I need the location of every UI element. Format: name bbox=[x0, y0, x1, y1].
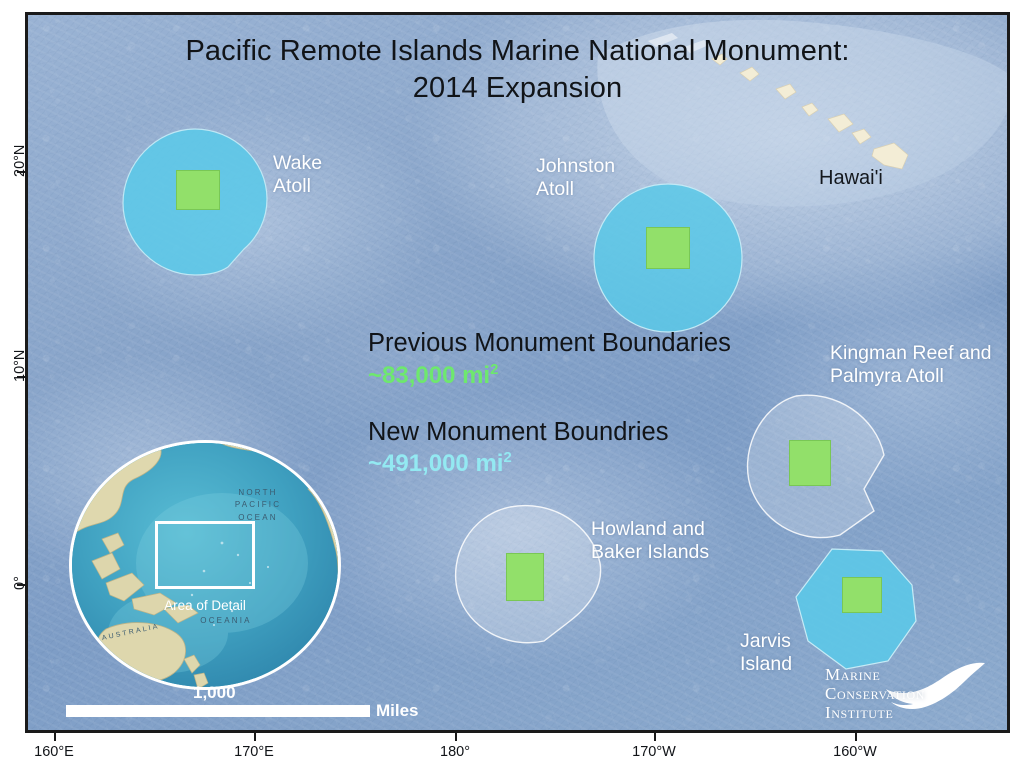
x-axis-label: 170°W bbox=[632, 744, 676, 760]
x-axis-label: 160°W bbox=[833, 744, 877, 760]
map-frame: Wake Atoll Johnston Atoll Hawai'i Kingma… bbox=[25, 12, 1010, 733]
x-axis-tick bbox=[54, 733, 56, 741]
inset-region-label: OCEANIA bbox=[180, 615, 272, 627]
johnston-atoll-previous-boundary bbox=[646, 227, 690, 269]
legend-new-boundaries: New Monument Boundries ~491,000 mi2 bbox=[368, 417, 838, 480]
logo-line-3: Institute bbox=[825, 703, 993, 722]
x-axis-label: 160°E bbox=[34, 744, 74, 760]
x-axis-tick bbox=[855, 733, 857, 741]
logo-text: Marine Conservation Institute bbox=[825, 665, 993, 722]
globe-graphic: NORTH PACIFIC OCEAN OCEANIA AUSTRALIA Ar… bbox=[69, 440, 341, 690]
scale-bar-distance: 1,000 bbox=[193, 683, 236, 703]
kingman-palmyra-label: Kingman Reef and Palmyra Atoll bbox=[830, 342, 992, 388]
logo-line-2: Conservation bbox=[825, 684, 993, 703]
scale-bar-graphic bbox=[66, 705, 370, 717]
y-axis-label: 10°N bbox=[12, 350, 28, 382]
x-axis-tick bbox=[455, 733, 457, 741]
johnston-atoll-label: Johnston Atoll bbox=[536, 155, 615, 201]
legend-new-exponent: 2 bbox=[503, 450, 511, 466]
x-axis-tick bbox=[654, 733, 656, 741]
area-of-detail-label: Area of Detail bbox=[72, 598, 338, 613]
y-axis-label: 0° bbox=[12, 576, 28, 590]
howland-baker-previous-boundary bbox=[506, 553, 544, 601]
legend-previous-exponent: 2 bbox=[490, 362, 498, 378]
x-axis-tick bbox=[254, 733, 256, 741]
legend-previous-boundaries: Previous Monument Boundaries ~83,000 mi2 bbox=[368, 328, 838, 391]
legend-new-title: New Monument Boundries bbox=[368, 417, 838, 448]
legend-previous-value: ~83,000 mi2 bbox=[368, 361, 838, 391]
howland-baker-label: Howland and Baker Islands bbox=[591, 518, 709, 564]
x-axis-label: 180° bbox=[440, 744, 470, 760]
inset-locator-map: NORTH PACIFIC OCEAN OCEANIA AUSTRALIA Ar… bbox=[69, 440, 344, 692]
organization-logo: Marine Conservation Institute bbox=[825, 665, 993, 722]
x-axis-label: 170°E bbox=[234, 744, 274, 760]
jarvis-island-previous-boundary bbox=[842, 577, 882, 613]
wake-atoll-previous-boundary bbox=[176, 170, 220, 210]
legend-previous-title: Previous Monument Boundaries bbox=[368, 328, 838, 359]
scale-bar-units: Miles bbox=[376, 701, 419, 721]
hawaii-label: Hawai'i bbox=[819, 167, 883, 191]
wake-atoll-label: Wake Atoll bbox=[273, 152, 322, 198]
logo-line-1: Marine bbox=[825, 665, 993, 684]
legend-previous-area: ~83,000 mi bbox=[368, 362, 490, 389]
area-of-detail-box bbox=[155, 521, 255, 589]
inset-ocean-label: NORTH PACIFIC OCEAN bbox=[212, 487, 304, 524]
map-poster: Wake Atoll Johnston Atoll Hawai'i Kingma… bbox=[0, 0, 1024, 762]
legend: Previous Monument Boundaries ~83,000 mi2… bbox=[368, 328, 838, 505]
page-title: Pacific Remote Islands Marine National M… bbox=[28, 33, 1007, 107]
legend-new-area: ~491,000 mi bbox=[368, 450, 503, 477]
legend-new-value: ~491,000 mi2 bbox=[368, 449, 838, 479]
y-axis-label: 20°N bbox=[12, 145, 28, 177]
jarvis-island-label: Jarvis Island bbox=[740, 630, 792, 676]
